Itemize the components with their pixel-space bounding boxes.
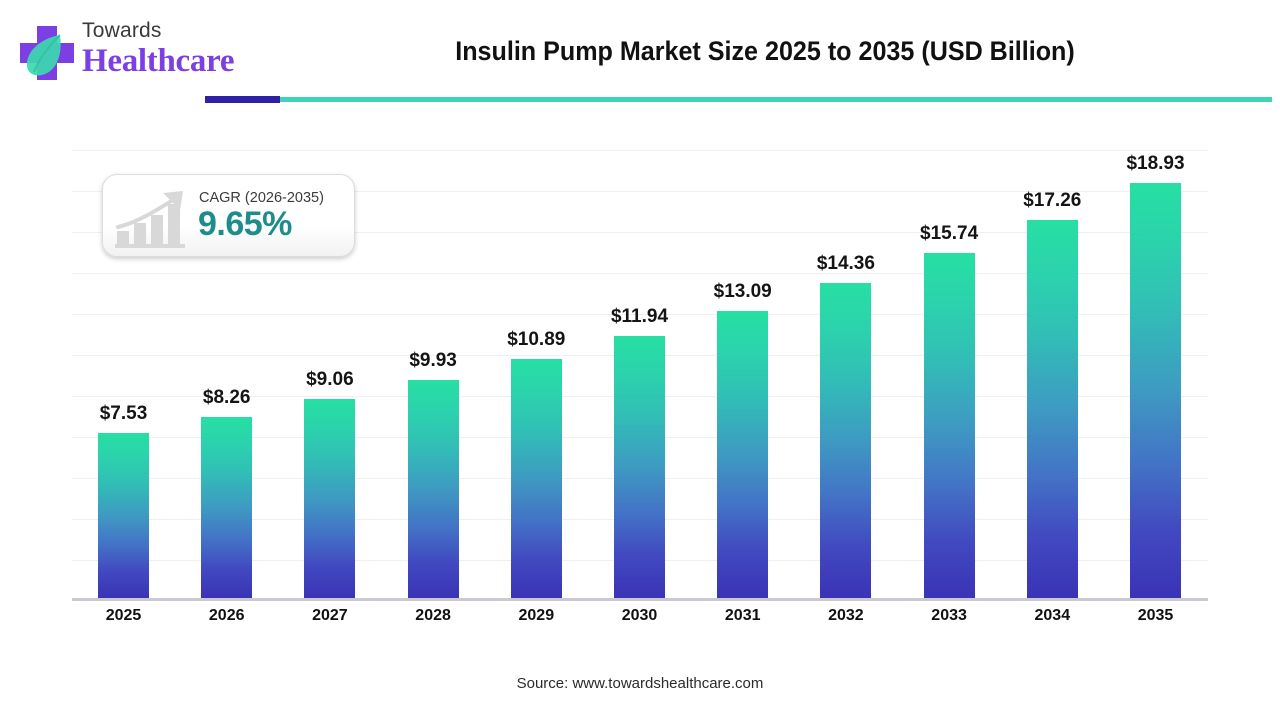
cagr-badge: CAGR (2026-2035) 9.65% xyxy=(102,174,355,257)
bar-value-label: $11.94 xyxy=(576,306,703,328)
bar-value-label: $18.93 xyxy=(1092,153,1219,175)
x-axis-baseline xyxy=(72,598,1208,601)
brand-wordmark: Towards Healthcare xyxy=(82,18,257,79)
bar-group[interactable]: $15.742033 xyxy=(898,110,1001,598)
bar[interactable] xyxy=(1027,220,1078,598)
bar-group[interactable]: $14.362032 xyxy=(794,110,897,598)
bar-value-label: $14.36 xyxy=(782,253,909,275)
bar-group[interactable]: $9.932028 xyxy=(382,110,485,598)
bar-group[interactable]: $10.892029 xyxy=(485,110,588,598)
header-accent-bar xyxy=(205,96,1272,103)
bar[interactable] xyxy=(717,311,768,598)
bar[interactable] xyxy=(820,283,871,598)
bar-value-label: $10.89 xyxy=(473,329,600,351)
brand-logo[interactable]: Towards Healthcare xyxy=(16,14,241,90)
page-title: Insulin Pump Market Size 2025 to 2035 (U… xyxy=(333,36,1198,67)
header: Towards Healthcare Insulin Pump Market S… xyxy=(0,0,1280,110)
x-axis-label: 2035 xyxy=(1092,607,1219,625)
bar-group[interactable]: $11.942030 xyxy=(588,110,691,598)
bar-group[interactable]: $17.262034 xyxy=(1001,110,1104,598)
bar[interactable] xyxy=(1130,183,1181,598)
accent-segment-teal xyxy=(280,97,1272,102)
cagr-label: CAGR (2026-2035) xyxy=(199,190,324,206)
bar-value-label: $9.93 xyxy=(370,350,497,372)
bar-value-label: $15.74 xyxy=(886,223,1013,245)
medical-cross-leaf-logo-icon xyxy=(16,22,78,84)
bar[interactable] xyxy=(304,399,355,598)
accent-segment-dark xyxy=(205,96,280,103)
bar-value-label: $17.26 xyxy=(989,190,1116,212)
bar-group[interactable]: $13.092031 xyxy=(691,110,794,598)
cagr-value: 9.65% xyxy=(198,205,292,244)
bar[interactable] xyxy=(924,253,975,598)
bar-value-label: $9.06 xyxy=(266,369,393,391)
bar[interactable] xyxy=(98,433,149,598)
bar[interactable] xyxy=(408,380,459,598)
bar-value-label: $13.09 xyxy=(679,281,806,303)
bar[interactable] xyxy=(201,417,252,598)
bar[interactable] xyxy=(614,336,665,598)
brand-line-1: Towards xyxy=(82,18,257,43)
brand-line-2: Healthcare xyxy=(82,43,257,79)
source-note: Source: www.towardshealthcare.com xyxy=(0,675,1280,692)
bar[interactable] xyxy=(511,359,562,598)
growth-bar-chart-arrow-icon xyxy=(113,187,195,249)
bar-group[interactable]: $18.932035 xyxy=(1104,110,1207,598)
